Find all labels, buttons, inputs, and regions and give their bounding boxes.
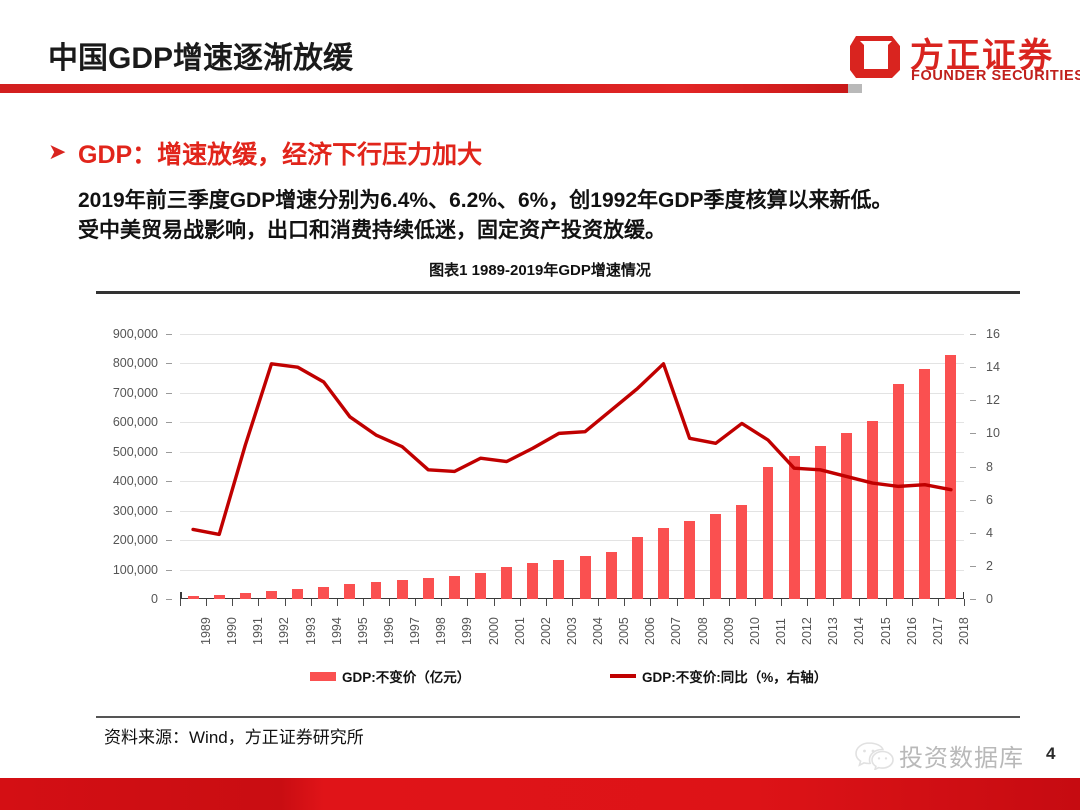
x-axis-tick — [650, 599, 651, 606]
x-axis-tick — [572, 599, 573, 606]
x-axis-label-2018: 2018 — [957, 617, 971, 645]
y-axis-left-tick — [166, 599, 172, 600]
y-axis-left-tick-label: 300,000 — [113, 504, 158, 518]
legend-swatch-icon — [310, 672, 336, 681]
plot-area — [180, 334, 964, 599]
y-axis-left-tick-label: 500,000 — [113, 445, 158, 459]
x-axis-label-2008: 2008 — [696, 617, 710, 645]
x-axis-label-1997: 1997 — [408, 617, 422, 645]
x-axis-tick — [180, 599, 181, 606]
x-axis-label-1996: 1996 — [382, 617, 396, 645]
y-axis-right-tick-label: 12 — [986, 393, 1000, 407]
x-axis-label-2017: 2017 — [931, 617, 945, 645]
x-axis-label-1994: 1994 — [330, 617, 344, 645]
x-axis-label-2011: 2011 — [774, 618, 788, 645]
x-axis-tick — [441, 599, 442, 606]
figure-top-rule — [96, 291, 1020, 294]
x-axis-tick — [833, 599, 834, 606]
x-axis-label-2013: 2013 — [826, 617, 840, 645]
wechat-icon — [855, 740, 895, 770]
x-axis-tick — [337, 599, 338, 606]
y-axis-left-tick-label: 600,000 — [113, 415, 158, 429]
y-axis-right-tick-label: 0 — [986, 592, 993, 606]
watermark: 投资数据库 — [855, 738, 1045, 772]
x-axis-tick — [389, 599, 390, 606]
body-paragraph: 2019年前三季度GDP增速分别为6.4%、6.2%、6%，创1992年GDP季… — [78, 186, 1038, 246]
y-axis-right-tick — [970, 367, 976, 368]
x-axis-tick — [232, 599, 233, 606]
y-axis-left-tick — [166, 393, 172, 394]
y-axis-right-tick — [970, 500, 976, 501]
x-axis-tick — [807, 599, 808, 606]
x-axis-tick — [467, 599, 468, 606]
slide-header: 中国GDP增速逐渐放缓 方正证券 FOUNDER SECURITIES — [0, 0, 1080, 100]
y-axis-left-tick — [166, 540, 172, 541]
x-axis-label-2003: 2003 — [565, 617, 579, 645]
section-heading-label: GDP：增速放缓，经济下行压力加大 — [78, 135, 482, 171]
x-axis-label-1990: 1990 — [225, 617, 239, 645]
body-line-2: 受中美贸易战影响，出口和消费持续低迷，固定资产投资放缓。 — [78, 216, 1038, 246]
x-axis-label-2009: 2009 — [722, 617, 736, 645]
y-axis-right-tick — [970, 566, 976, 567]
x-axis-label-1999: 1999 — [460, 617, 474, 645]
arrow-bullet-icon: ➤ — [48, 141, 66, 163]
x-axis-tick — [677, 599, 678, 606]
x-axis-label-1989: 1989 — [199, 617, 213, 645]
legend-label: GDP:不变价（亿元） — [342, 666, 470, 686]
x-axis-tick — [206, 599, 207, 606]
x-axis-label-2014: 2014 — [852, 617, 866, 645]
page-title: 中国GDP增速逐渐放缓 — [48, 33, 353, 77]
y-axis-right-tick-label: 4 — [986, 526, 993, 540]
y-axis-right-tick — [970, 467, 976, 468]
x-axis-tick — [285, 599, 286, 606]
legend-swatch-icon — [610, 674, 636, 678]
founder-logo-icon — [848, 32, 902, 82]
y-axis-left-tick-label: 0 — [151, 592, 158, 606]
x-axis-label-2015: 2015 — [879, 617, 893, 645]
legend-item-gdp-growth[interactable]: GDP:不变价:同比（%，右轴） — [610, 666, 827, 686]
x-axis-tick — [520, 599, 521, 606]
y-axis-right-tick — [970, 400, 976, 401]
x-axis-label-1992: 1992 — [277, 617, 291, 645]
x-axis-tick — [755, 599, 756, 606]
y-axis-left-tick — [166, 511, 172, 512]
body-line-1: 2019年前三季度GDP增速分别为6.4%、6.2%、6%，创1992年GDP季… — [78, 186, 1038, 216]
watermark-label: 投资数据库 — [899, 738, 1024, 773]
company-logo: 方正证券 FOUNDER SECURITIES — [848, 28, 1066, 90]
y-axis-left-tick — [166, 570, 172, 571]
x-axis-label-1991: 1991 — [251, 617, 265, 645]
y-axis-right-tick-label: 8 — [986, 460, 993, 474]
chart-legend: GDP:不变价（亿元）GDP:不变价:同比（%，右轴） — [180, 666, 964, 690]
y-axis-right-labels: 0246810121416 — [970, 334, 1010, 599]
y-axis-left-tick-label: 400,000 — [113, 474, 158, 488]
x-axis-label-2001: 2001 — [513, 617, 527, 645]
x-axis-label-2005: 2005 — [617, 617, 631, 645]
y-axis-right-tick-label: 16 — [986, 327, 1000, 341]
gdp-chart: 0100,000200,000300,000400,000500,000600,… — [96, 296, 1020, 708]
y-axis-left-labels: 0100,000200,000300,000400,000500,000600,… — [96, 334, 172, 599]
x-axis-label-2000: 2000 — [487, 617, 501, 645]
y-axis-right-tick — [970, 433, 976, 434]
logo-english-name: FOUNDER SECURITIES — [911, 68, 1080, 84]
slide: 中国GDP增速逐渐放缓 方正证券 FOUNDER SECURITIES ➤ GD… — [0, 0, 1080, 810]
x-axis-label-1995: 1995 — [356, 617, 370, 645]
y-axis-left-tick — [166, 334, 172, 335]
y-axis-left-tick-label: 900,000 — [113, 327, 158, 341]
y-axis-right-tick — [970, 334, 976, 335]
x-axis-tick — [258, 599, 259, 606]
header-red-rule — [0, 84, 848, 93]
x-axis-tick — [494, 599, 495, 606]
y-axis-right-tick — [970, 533, 976, 534]
page-number: 4 — [1046, 744, 1055, 764]
y-axis-left-tick-label: 800,000 — [113, 356, 158, 370]
x-axis-tick — [938, 599, 939, 606]
x-axis-label-2002: 2002 — [539, 617, 553, 645]
source-note: 资料来源：Wind，方正证券研究所 — [104, 723, 364, 748]
legend-label: GDP:不变价:同比（%，右轴） — [642, 666, 827, 686]
y-axis-left-tick — [166, 422, 172, 423]
x-axis-tick — [546, 599, 547, 606]
x-axis-label-2006: 2006 — [643, 617, 657, 645]
x-axis-tick — [781, 599, 782, 606]
x-axis-tick — [624, 599, 625, 606]
x-axis-tick — [703, 599, 704, 606]
y-axis-left-tick-label: 700,000 — [113, 386, 158, 400]
section-heading: ➤ GDP：增速放缓，经济下行压力加大 — [48, 135, 1048, 171]
x-axis-label-2007: 2007 — [669, 617, 683, 645]
x-axis-tick — [964, 599, 965, 606]
x-axis-tick — [363, 599, 364, 606]
x-axis-tick — [415, 599, 416, 606]
x-axis-label-2010: 2010 — [748, 617, 762, 645]
x-axis-label-1993: 1993 — [304, 617, 318, 645]
figure-title: 图表1 1989-2019年GDP增速情况 — [0, 259, 1080, 280]
x-axis-tick — [311, 599, 312, 606]
y-axis-left-tick — [166, 363, 172, 364]
y-axis-right-tick-label: 6 — [986, 493, 993, 507]
x-axis-label-2012: 2012 — [800, 617, 814, 645]
y-axis-right-tick-label: 10 — [986, 426, 1000, 440]
y-axis-right-tick — [970, 599, 976, 600]
y-axis-left-tick-label: 100,000 — [113, 563, 158, 577]
x-axis-tick — [912, 599, 913, 606]
growth-rate-line — [180, 334, 964, 599]
x-axis-tick — [729, 599, 730, 606]
x-axis-tick — [598, 599, 599, 606]
x-axis-labels: 1989199019911992199319941995199619971998… — [180, 599, 964, 661]
y-axis-right-tick-label: 14 — [986, 360, 1000, 374]
y-axis-left-tick-label: 200,000 — [113, 533, 158, 547]
x-axis-label-2016: 2016 — [905, 617, 919, 645]
legend-item-gdp-level[interactable]: GDP:不变价（亿元） — [310, 666, 470, 686]
source-rule — [96, 716, 1020, 718]
footer-bar — [0, 778, 1080, 810]
x-axis-label-1998: 1998 — [434, 617, 448, 645]
x-axis-label-2004: 2004 — [591, 617, 605, 645]
y-axis-left-tick — [166, 481, 172, 482]
y-axis-right-tick-label: 2 — [986, 559, 993, 573]
x-axis-tick — [886, 599, 887, 606]
x-axis-tick — [859, 599, 860, 606]
y-axis-left-tick — [166, 452, 172, 453]
